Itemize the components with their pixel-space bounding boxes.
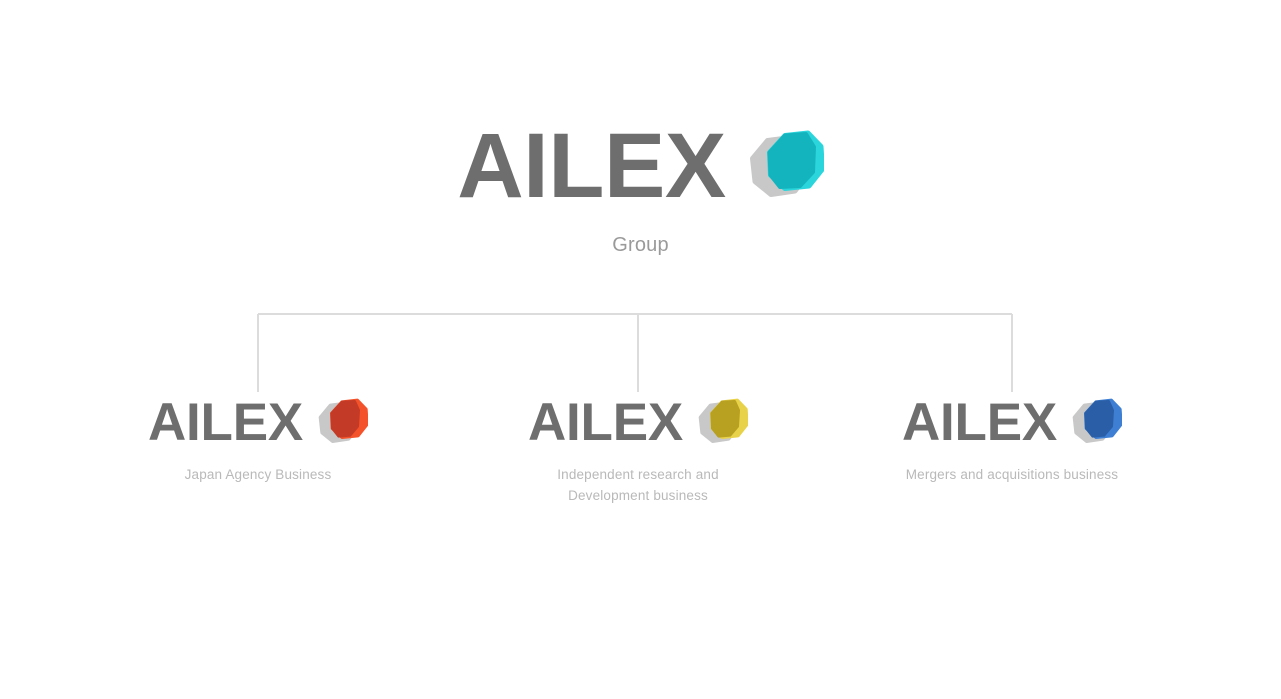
hexagon-mark-teal	[740, 128, 824, 206]
root-label: Group	[612, 234, 669, 257]
hexagon-mark-gold	[692, 397, 748, 449]
child-label-line: Independent research and	[557, 465, 719, 486]
child-wordmark: AILEX	[902, 396, 1057, 449]
child-wordmark: AILEX	[528, 396, 683, 449]
child-label-line: Japan Agency Business	[185, 465, 332, 486]
child-logo-lockup: AILEX	[902, 396, 1122, 449]
hexagon-mark-blue	[1066, 397, 1122, 449]
child-label-line: Development business	[557, 486, 719, 507]
child-label: Mergers and acquisitions business	[906, 465, 1118, 486]
connector-lines	[0, 0, 1281, 699]
child-node-mergers-acquisitions: AILEX Mergers and acquisitions business	[832, 396, 1192, 486]
child-label: Independent research and Development bus…	[557, 465, 719, 507]
child-wordmark: AILEX	[148, 396, 303, 449]
hexagon-mark-red	[312, 397, 368, 449]
child-node-independent-rnd: AILEX Independent research and Developme…	[458, 396, 818, 507]
child-logo-lockup: AILEX	[528, 396, 748, 449]
child-node-japan-agency: AILEX Japan Agency Business	[78, 396, 438, 486]
child-logo-lockup: AILEX	[148, 396, 368, 449]
root-logo-lockup: AILEX	[457, 120, 824, 212]
root-wordmark: AILEX	[457, 120, 726, 212]
child-label-line: Mergers and acquisitions business	[906, 465, 1118, 486]
root-node: AILEX Group	[0, 120, 1281, 257]
child-label: Japan Agency Business	[185, 465, 332, 486]
child-node-row: AILEX Japan Agency Business AILEX	[0, 396, 1281, 556]
org-chart: AILEX Group AILEX	[0, 0, 1281, 699]
